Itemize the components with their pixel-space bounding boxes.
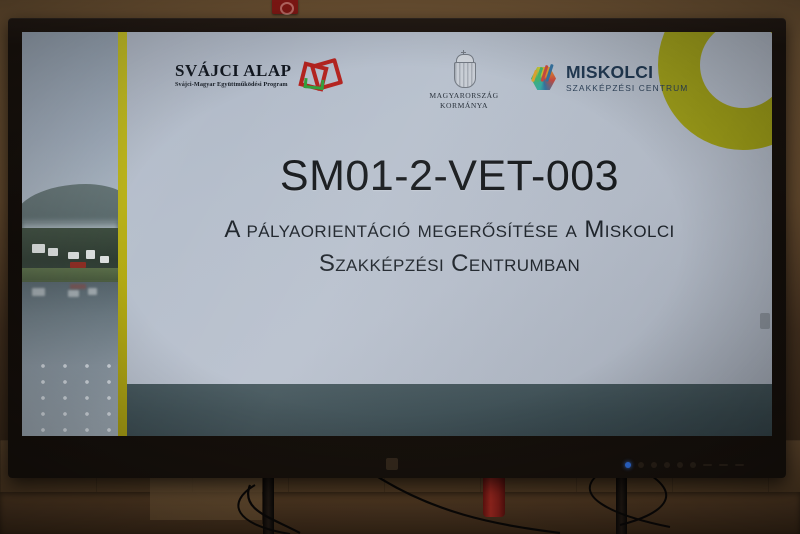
fire-safety-sign (272, 0, 298, 14)
display-control-buttons[interactable] (625, 462, 744, 468)
landscape-photo-strip (22, 32, 118, 436)
presentation-slide[interactable]: SVÁJCI ALAP Svájci-Magyar Együttműködési… (22, 32, 772, 436)
swiss-logo-title: SVÁJCI ALAP (175, 62, 292, 80)
display-brand-logo (386, 458, 398, 470)
miskolc-logo-title: MISKOLCI (566, 64, 688, 82)
display-bottom-bezel (8, 450, 786, 478)
project-code-title: SM01-2-VET-003 (127, 152, 772, 201)
screen-edge-marker[interactable] (760, 313, 770, 329)
control-button-3[interactable] (664, 462, 670, 468)
swiss-logo-subtitle: Svájci-Magyar Együttműködési Program (175, 82, 292, 89)
hexagon-logo-icon (529, 63, 559, 93)
gov-logo-line1: MAGYARORSZÁG (409, 91, 519, 101)
logo-row: SVÁJCI ALAP Svájci-Magyar Együttműködési… (127, 54, 772, 116)
slide-subtitle-line2: Szakképzési Centrumban (127, 247, 772, 281)
hungarian-coat-of-arms-icon (451, 54, 477, 88)
control-button-5[interactable] (690, 462, 696, 468)
yellow-accent-bar (118, 32, 127, 436)
control-button-1[interactable] (638, 462, 644, 468)
hungarian-government-logo: MAGYARORSZÁG KORMÁNYA (409, 54, 519, 112)
screen-bezel: SVÁJCI ALAP Svájci-Magyar Együttműködési… (22, 32, 772, 436)
slide-subtitle: A pályaorientáció megerősítése a Miskolc… (127, 213, 772, 281)
swiss-cooperation-emblem-icon (300, 60, 334, 90)
swiss-fund-logo: SVÁJCI ALAP Svájci-Magyar Együttműködési… (175, 60, 334, 90)
miskolc-centre-logo: MISKOLCI SZAKKÉPZÉSI CENTRUM (529, 63, 688, 93)
power-led-icon (625, 462, 631, 468)
control-button-6[interactable] (703, 464, 712, 466)
miskolc-logo-subtitle: SZAKKÉPZÉSI CENTRUM (566, 84, 688, 92)
interactive-display[interactable]: SVÁJCI ALAP Svájci-Magyar Együttműködési… (8, 18, 786, 478)
control-button-4[interactable] (677, 462, 683, 468)
gov-logo-line2: KORMÁNYA (409, 101, 519, 111)
slide-headline: SM01-2-VET-003 A pályaorientáció megerős… (127, 152, 772, 281)
control-button-8[interactable] (735, 464, 744, 466)
dot-pattern-overlay (26, 354, 114, 434)
slide-subtitle-line1: A pályaorientáció megerősítése a Miskolc… (127, 213, 772, 247)
control-button-7[interactable] (719, 464, 728, 466)
photo-scene: SVÁJCI ALAP Svájci-Magyar Együttműködési… (0, 0, 800, 534)
control-button-2[interactable] (651, 462, 657, 468)
bottom-color-band (127, 384, 772, 436)
